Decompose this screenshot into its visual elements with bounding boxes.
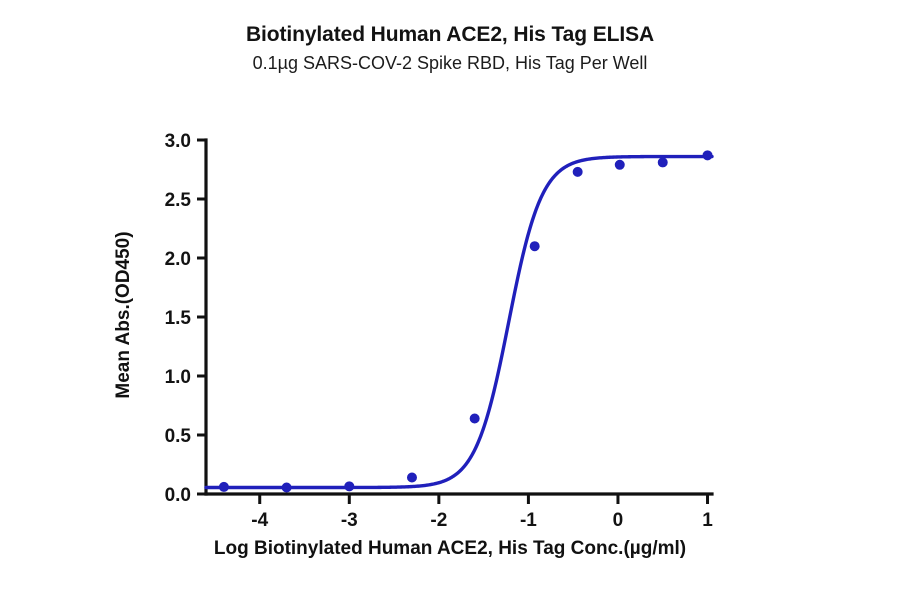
x-tick-label: -1 [520, 510, 537, 531]
y-tick-label: 3.0 [165, 131, 191, 152]
data-point-marker [407, 473, 416, 482]
x-tick-label: -4 [251, 510, 268, 531]
y-tick-label: 0.5 [165, 426, 192, 447]
y-tick-label: 2.5 [165, 190, 192, 211]
x-tick-label: -2 [430, 510, 447, 531]
y-tick-label: 1.5 [165, 308, 192, 329]
plot-area: 0.00.51.01.52.02.53.0 -4-3-2-101 [0, 0, 900, 594]
data-point-marker [282, 483, 291, 492]
data-point-marker [658, 158, 667, 167]
data-point-marker [530, 242, 539, 251]
y-tick-label: 1.0 [165, 367, 191, 388]
elisa-chart-figure: Biotinylated Human ACE2, His Tag ELISA 0… [0, 0, 900, 594]
tick-mark-group [197, 140, 708, 504]
y-tick-label: 2.0 [165, 249, 191, 270]
x-tick-label: -3 [341, 510, 358, 531]
x-tick-label-group: -4-3-2-101 [251, 510, 713, 531]
data-point-marker [615, 160, 624, 169]
data-point-marker [573, 167, 582, 176]
data-point-marker [470, 414, 479, 423]
x-tick-label: 0 [613, 510, 624, 531]
y-tick-label-group: 0.00.51.01.52.02.53.0 [165, 131, 192, 506]
x-tick-label: 1 [702, 510, 713, 531]
y-tick-label: 0.0 [165, 485, 191, 506]
data-point-marker [219, 482, 228, 491]
data-point-group [219, 151, 712, 492]
axis-spine-group [206, 140, 712, 494]
series-fit-curve [206, 157, 712, 488]
data-point-marker [703, 151, 712, 160]
data-point-marker [345, 482, 354, 491]
fit-curve-group [206, 157, 712, 488]
